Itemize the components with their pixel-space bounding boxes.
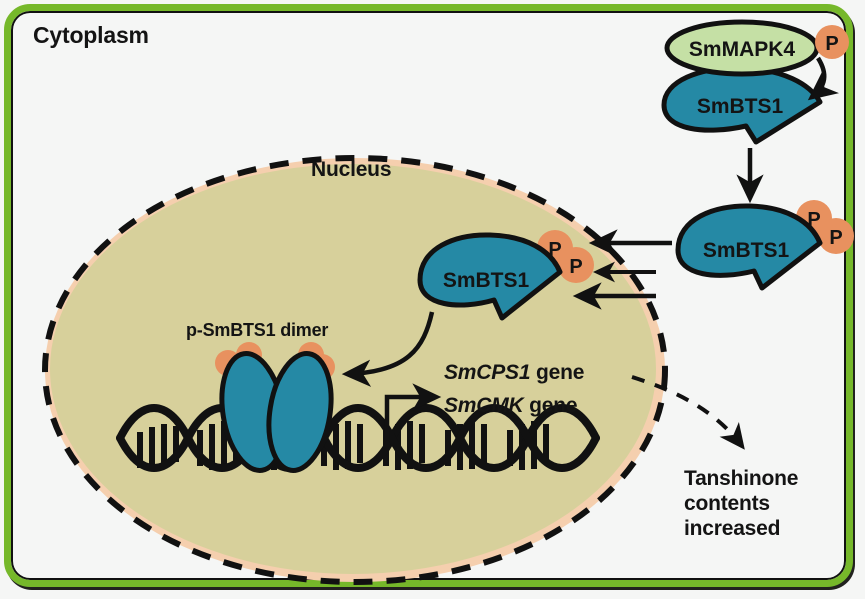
phosphate-letter: P — [825, 33, 838, 55]
smbts1-phospho-node: P P SmBTS1 — [678, 200, 854, 288]
tanshinone-outcome-label: Tanshinone contents increased — [684, 466, 798, 541]
smmapk4-label: SmMAPK4 — [689, 38, 796, 61]
gene-name-smcps1: SmCPS1 — [444, 361, 530, 384]
smbts1-phospho-label: SmBTS1 — [703, 239, 790, 262]
gene-suffix-smcps1: gene — [530, 361, 584, 384]
cytoplasm-label: Cytoplasm — [33, 22, 149, 49]
gene-label-smcps1: SmCPS1 gene — [444, 361, 584, 385]
gene-suffix-smcmk: gene — [524, 394, 578, 417]
nucleus-label: Nucleus — [311, 158, 391, 182]
phosphate-letter: P — [829, 227, 842, 249]
phosphate-letter: P — [569, 256, 582, 278]
smmapk4-smbts1-complex: SmBTS1 SmMAPK4 P — [664, 22, 849, 142]
smbts1-cytoplasm-label: SmBTS1 — [697, 95, 784, 118]
gene-label-smcmk: SmCMK gene — [444, 394, 577, 418]
smbts1-nucleus-label: SmBTS1 — [443, 269, 530, 292]
pathway-diagram: P P SmBTS1 SmBTS1 SmMAPK4 P — [0, 0, 865, 599]
p-smbts1-dimer-label: p-SmBTS1 dimer — [186, 320, 328, 341]
gene-name-smcmk: SmCMK — [444, 394, 524, 417]
